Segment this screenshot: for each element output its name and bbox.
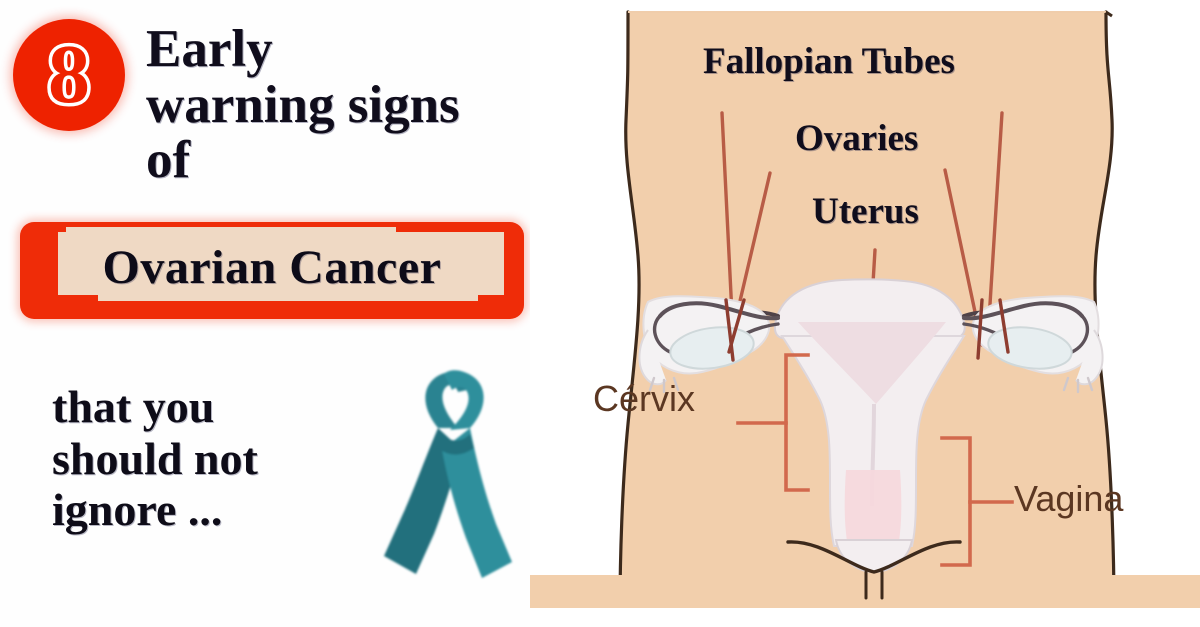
badge-number: 8 bbox=[13, 19, 125, 131]
subheadline-line-3: ignore ... bbox=[52, 484, 382, 536]
label-fallopian-tubes: Fallopian Tubes bbox=[703, 40, 955, 83]
headline: Early warning signs of bbox=[146, 22, 536, 189]
label-vagina: Vagina bbox=[1014, 478, 1123, 520]
headline-line-3: of bbox=[146, 133, 536, 189]
anatomy-diagram bbox=[530, 0, 1200, 627]
title-banner: Ovarian Cancer bbox=[20, 222, 524, 319]
subheadline-line-2: should not bbox=[52, 433, 382, 485]
subheadline: that you should not ignore ... bbox=[52, 381, 382, 536]
left-text-panel: 8 Early warning signs of Ovarian Cancer … bbox=[0, 0, 540, 627]
subheadline-line-1: that you bbox=[52, 381, 382, 433]
label-ovaries: Ovaries bbox=[795, 117, 918, 160]
anatomy-illustration bbox=[530, 0, 1200, 627]
banner-title: Ovarian Cancer bbox=[20, 222, 524, 319]
circle-badge-icon: 8 bbox=[13, 19, 125, 131]
infographic-canvas: 8 Early warning signs of Ovarian Cancer … bbox=[0, 0, 1200, 627]
label-cervix: Cérvix bbox=[593, 378, 695, 420]
headline-line-1: Early bbox=[146, 22, 536, 78]
awareness-ribbon-icon bbox=[378, 358, 528, 608]
label-uterus: Uterus bbox=[812, 190, 919, 233]
headline-line-2: warning signs bbox=[146, 78, 536, 134]
